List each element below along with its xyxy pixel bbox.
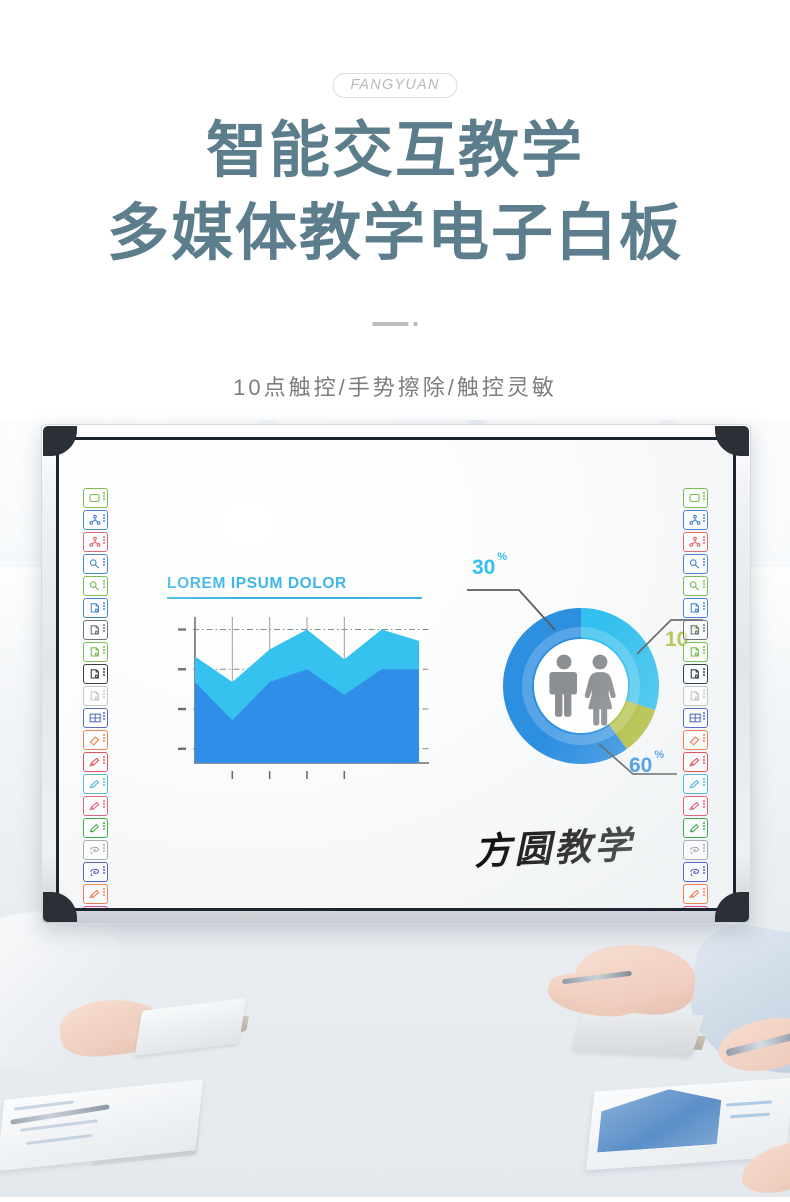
share-network-red-icon[interactable] [683, 532, 708, 552]
chart-title-underline [167, 597, 422, 599]
product-banner-page: LOREM IPSUM DOLOR 30% 10% [0, 0, 790, 1197]
page-light-icon[interactable] [83, 686, 108, 706]
chart-title: LOREM IPSUM DOLOR [167, 575, 429, 593]
icon-indicator-dots [703, 646, 705, 655]
notebook-right [572, 1009, 704, 1057]
icon-indicator-dots [703, 690, 705, 699]
donut-label-30-value: 30 [472, 556, 495, 579]
marker-red-icon[interactable] [83, 752, 108, 772]
icon-indicator-dots [103, 580, 105, 589]
icon-indicator-dots [103, 602, 105, 611]
donut-label-30: 30% [472, 556, 507, 580]
icon-indicator-dots [103, 558, 105, 567]
icon-indicator-dots [703, 580, 705, 589]
page-gray-icon[interactable] [683, 620, 708, 640]
interactive-whiteboard[interactable]: LOREM IPSUM DOLOR 30% 10% [41, 424, 751, 924]
icon-indicator-dots [103, 822, 105, 831]
divider-dot [414, 322, 418, 326]
eraser-icon[interactable] [83, 730, 108, 750]
icon-indicator-dots [703, 624, 705, 633]
brand-badge: FANGYUAN [332, 73, 457, 98]
icon-indicator-dots [703, 778, 705, 787]
pen-blue-icon[interactable] [683, 774, 708, 794]
icon-indicator-dots [703, 734, 705, 743]
lasso-gray-icon[interactable] [83, 840, 108, 860]
icon-indicator-dots [703, 514, 705, 523]
icon-indicator-dots [103, 866, 105, 875]
icon-indicator-dots [103, 624, 105, 633]
share-network-icon[interactable] [683, 510, 708, 530]
page-title: 智能交互教学 多媒体教学电子白板 [0, 108, 790, 276]
pen-blue-icon[interactable] [83, 774, 108, 794]
share-network-icon[interactable] [83, 510, 108, 530]
headline-line-1: 智能交互教学 [0, 108, 790, 192]
chart-plot-area [167, 613, 429, 785]
area-chart-svg [167, 613, 429, 785]
icon-indicator-dots [103, 646, 105, 655]
grid-layout-icon[interactable] [683, 708, 708, 728]
whiteboard-surface[interactable]: LOREM IPSUM DOLOR 30% 10% [59, 440, 733, 908]
icon-indicator-dots [103, 888, 105, 897]
icon-indicator-dots [703, 492, 705, 501]
toolbar-strip-right[interactable] [683, 488, 709, 908]
page-green-icon[interactable] [683, 642, 708, 662]
icon-indicator-dots [703, 756, 705, 765]
page-blue-icon[interactable] [683, 598, 708, 618]
zoom-out-icon[interactable] [683, 576, 708, 596]
eraser-icon[interactable] [683, 730, 708, 750]
highlighter-green-icon[interactable] [683, 818, 708, 838]
highlighter-green-icon[interactable] [83, 818, 108, 838]
lasso-purple-icon[interactable] [83, 862, 108, 882]
marker-pink-icon[interactable] [683, 796, 708, 816]
brush-orange-icon[interactable] [683, 884, 708, 904]
screen-capture-icon[interactable] [683, 488, 708, 508]
icon-indicator-dots [103, 734, 105, 743]
lasso-purple-icon[interactable] [683, 862, 708, 882]
area-chart: LOREM IPSUM DOLOR [167, 575, 429, 790]
icon-indicator-dots [703, 712, 705, 721]
marker-red-icon[interactable] [683, 752, 708, 772]
icon-indicator-dots [103, 668, 105, 677]
brush-orange-icon[interactable] [83, 884, 108, 904]
icon-indicator-dots [703, 844, 705, 853]
page-light-icon[interactable] [683, 686, 708, 706]
page-gray-icon[interactable] [83, 620, 108, 640]
donut-chart-svg [459, 558, 711, 808]
donut-label-60: 60% [629, 754, 664, 778]
icon-indicator-dots [703, 800, 705, 809]
page-blue-icon[interactable] [83, 598, 108, 618]
page-subtitle: 10点触控/手势擦除/触控灵敏 [0, 370, 790, 402]
divider-bar [373, 322, 409, 326]
brush-magenta-icon[interactable] [83, 906, 108, 908]
percent-sign: % [654, 749, 664, 761]
handwritten-signature: 方圆教学 [473, 815, 635, 876]
zoom-out-icon[interactable] [83, 576, 108, 596]
screen-capture-icon[interactable] [83, 488, 108, 508]
icon-indicator-dots [103, 844, 105, 853]
title-divider [373, 322, 418, 326]
percent-sign: % [497, 551, 507, 563]
icon-indicator-dots [103, 800, 105, 809]
share-network-red-icon[interactable] [83, 532, 108, 552]
zoom-in-icon[interactable] [83, 554, 108, 574]
donut-label-60-value: 60 [629, 754, 652, 777]
page-green-icon[interactable] [83, 642, 108, 662]
headline-line-2: 多媒体教学电子白板 [0, 192, 790, 276]
page-dark-icon[interactable] [83, 664, 108, 684]
donut-chart: 30% 10% 60% [459, 558, 711, 808]
page-dark-icon[interactable] [683, 664, 708, 684]
icon-indicator-dots [703, 822, 705, 831]
icon-indicator-dots [703, 536, 705, 545]
marker-pink-icon[interactable] [83, 796, 108, 816]
hero-header: FANGYUAN 智能交互教学 多媒体教学电子白板 10点触控/手势擦除/触控灵… [0, 0, 790, 420]
grid-layout-icon[interactable] [83, 708, 108, 728]
icon-indicator-dots [703, 888, 705, 897]
icon-indicator-dots [103, 690, 105, 699]
icon-indicator-dots [103, 778, 105, 787]
zoom-in-icon[interactable] [683, 554, 708, 574]
icon-indicator-dots [103, 712, 105, 721]
lasso-gray-icon[interactable] [683, 840, 708, 860]
brush-magenta-icon[interactable] [683, 906, 708, 908]
icon-indicator-dots [103, 536, 105, 545]
icon-indicator-dots [703, 558, 705, 567]
icon-indicator-dots [103, 756, 105, 765]
icon-indicator-dots [703, 866, 705, 875]
icon-indicator-dots [103, 492, 105, 501]
icon-indicator-dots [103, 514, 105, 523]
icon-indicator-dots [703, 668, 705, 677]
toolbar-strip-left[interactable] [83, 488, 109, 908]
icon-indicator-dots [703, 602, 705, 611]
